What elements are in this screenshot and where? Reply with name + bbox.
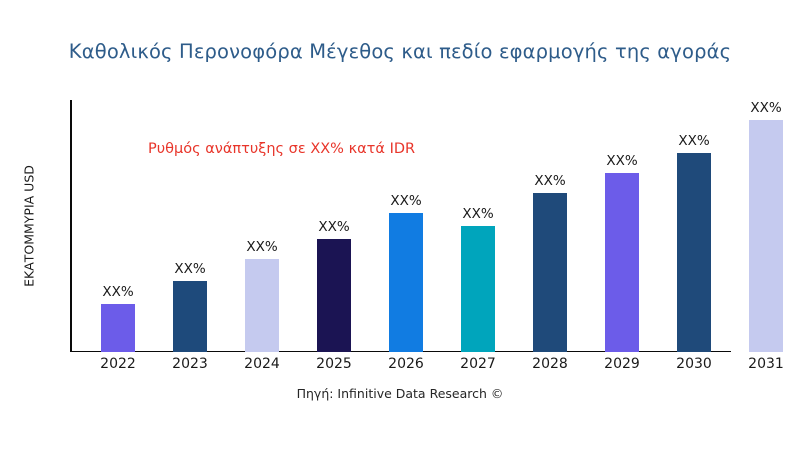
bar-value-label-2025: XX% <box>318 219 349 235</box>
bar-value-label-2026: XX% <box>390 193 421 209</box>
x-tick-2026: 2026 <box>388 356 424 372</box>
bar-rect-2031[interactable] <box>749 120 783 352</box>
x-tick-2028: 2028 <box>532 356 568 372</box>
chart-title: Καθολικός Περονοφόρα Μέγεθος και πεδίο ε… <box>0 40 800 63</box>
x-tick-2025: 2025 <box>316 356 352 372</box>
bar-2030[interactable]: XX% <box>677 100 711 352</box>
bar-rect-2027[interactable] <box>461 226 495 352</box>
y-axis-title: ΕΚΑΤΟΜΜΥΡΙΑ USD <box>22 165 37 287</box>
x-tick-2024: 2024 <box>244 356 280 372</box>
bar-value-label-2023: XX% <box>174 261 205 277</box>
bars-layer: XX%XX%XX%XX%XX%XX%XX%XX%XX%XX% <box>70 100 800 352</box>
bar-rect-2029[interactable] <box>605 173 639 352</box>
y-axis-title-wrapper: ΕΚΑΤΟΜΜΥΡΙΑ USD <box>17 100 41 352</box>
x-tick-2031: 2031 <box>748 356 784 372</box>
bar-value-label-2022: XX% <box>102 284 133 300</box>
x-axis-tick-labels: 2022202320242025202620272028202920302031 <box>70 356 800 378</box>
bar-2028[interactable]: XX% <box>533 100 567 352</box>
bar-value-label-2027: XX% <box>462 206 493 222</box>
bar-value-label-2024: XX% <box>246 239 277 255</box>
bar-rect-2025[interactable] <box>317 239 351 352</box>
bar-chart: Καθολικός Περονοφόρα Μέγεθος και πεδίο ε… <box>0 0 800 450</box>
source-caption: Πηγή: Infinitive Data Research © <box>0 386 800 401</box>
bar-rect-2024[interactable] <box>245 259 279 352</box>
x-tick-2030: 2030 <box>676 356 712 372</box>
bar-value-label-2028: XX% <box>534 173 565 189</box>
bar-value-label-2030: XX% <box>678 133 709 149</box>
bar-rect-2022[interactable] <box>101 304 135 352</box>
x-tick-2027: 2027 <box>460 356 496 372</box>
bar-rect-2026[interactable] <box>389 213 423 352</box>
bar-2026[interactable]: XX% <box>389 100 423 352</box>
bar-2025[interactable]: XX% <box>317 100 351 352</box>
growth-rate-annotation: Ρυθμός ανάπτυξης σε XX% κατά IDR <box>148 141 415 157</box>
x-tick-2023: 2023 <box>172 356 208 372</box>
bar-2031[interactable]: XX% <box>749 100 783 352</box>
bar-value-label-2029: XX% <box>606 153 637 169</box>
x-tick-2022: 2022 <box>100 356 136 372</box>
bar-rect-2030[interactable] <box>677 153 711 352</box>
bar-2027[interactable]: XX% <box>461 100 495 352</box>
bar-2023[interactable]: XX% <box>173 100 207 352</box>
bar-2029[interactable]: XX% <box>605 100 639 352</box>
bar-value-label-2031: XX% <box>750 100 781 116</box>
bar-rect-2023[interactable] <box>173 281 207 352</box>
bar-rect-2028[interactable] <box>533 193 567 352</box>
x-tick-2029: 2029 <box>604 356 640 372</box>
bar-2024[interactable]: XX% <box>245 100 279 352</box>
bar-2022[interactable]: XX% <box>101 100 135 352</box>
